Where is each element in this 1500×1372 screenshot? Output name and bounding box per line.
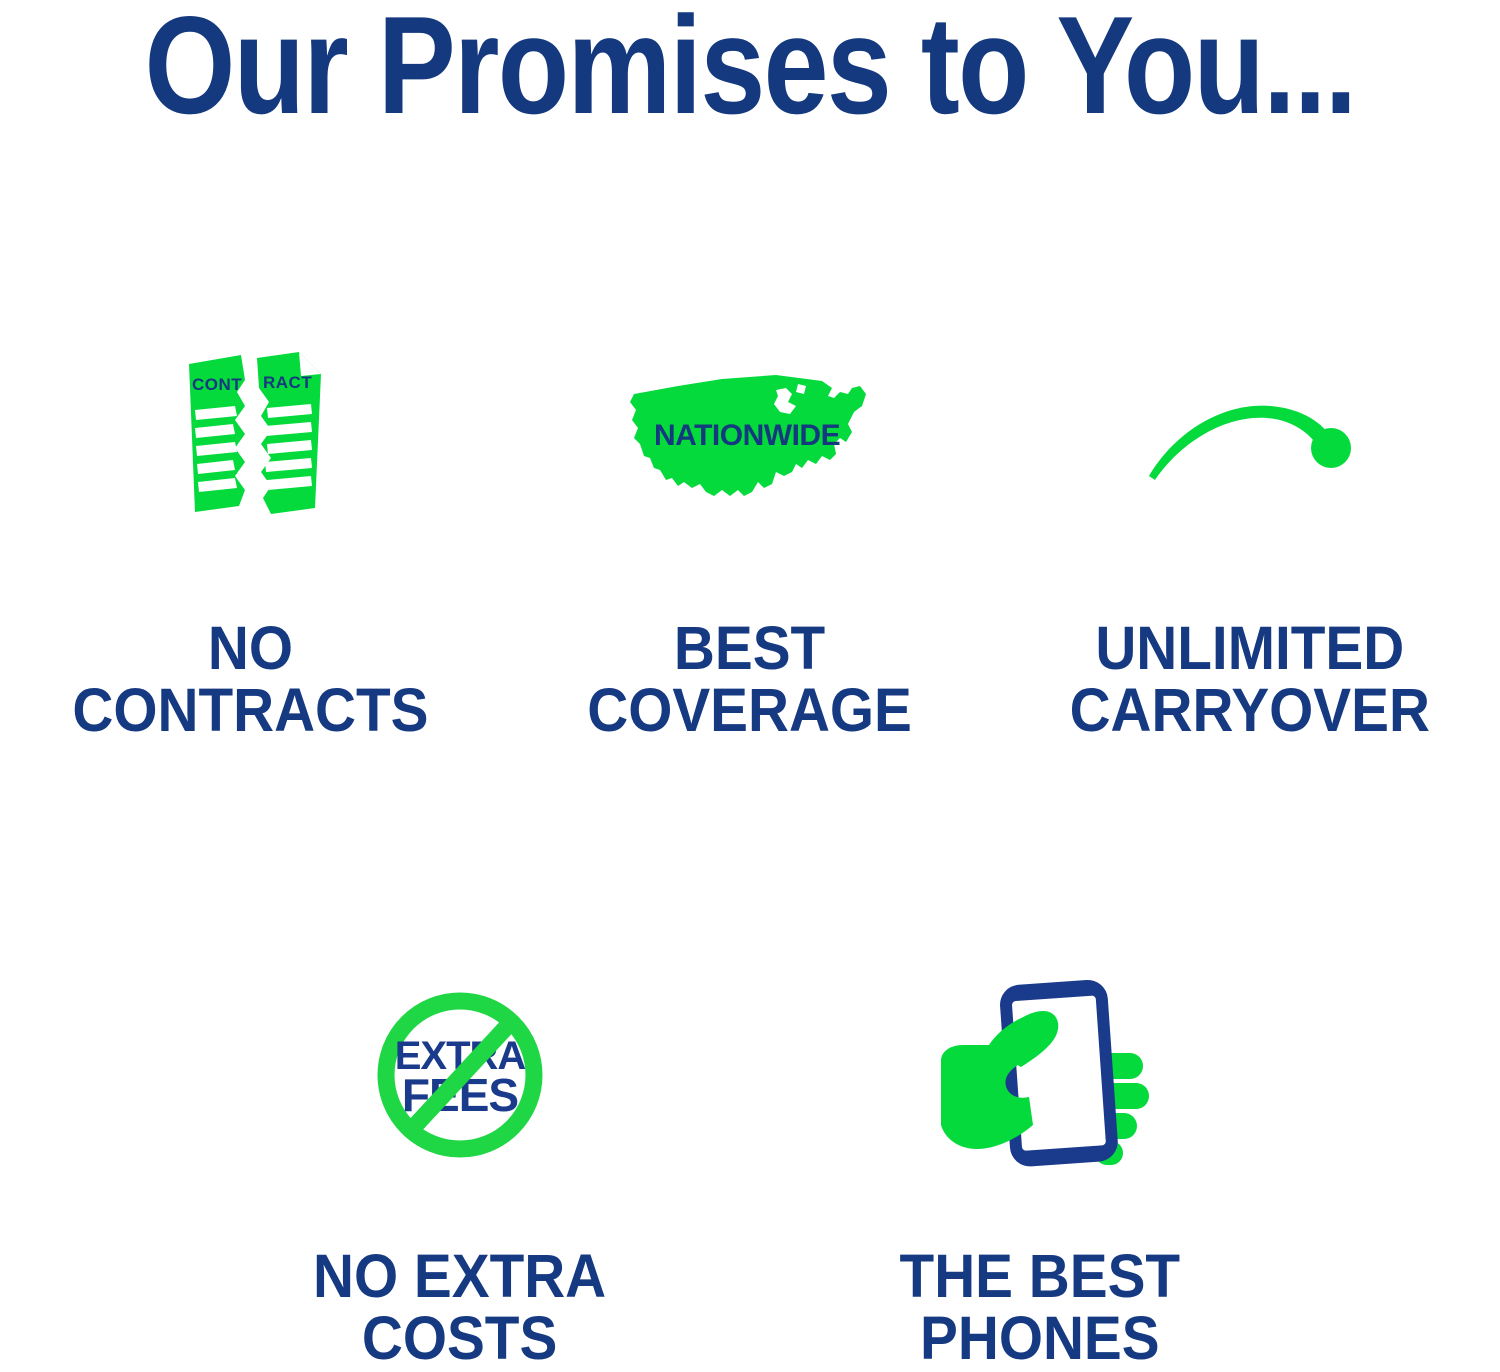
contract-icon-text-left: CONT bbox=[192, 375, 242, 394]
promise-label-the-best-phones: THE BEST PHONES bbox=[900, 1245, 1181, 1369]
page-title: Our Promises to You... bbox=[120, 0, 1380, 146]
no-extra-fees-icon: EXTRA FEES bbox=[372, 960, 548, 1190]
promise-label-no-contracts: NO CONTRACTS bbox=[72, 617, 428, 741]
promise-row-top: CONT RACT NO CONTRACTS NATIONWIDE BEST C… bbox=[0, 330, 1500, 741]
promise-label-best-coverage: BEST COVERAGE bbox=[588, 617, 913, 741]
promise-card-unlimited-carryover: UNLIMITED CARRYOVER bbox=[1000, 330, 1500, 741]
carryover-arc-icon bbox=[1145, 330, 1355, 545]
promise-card-best-coverage: NATIONWIDE BEST COVERAGE bbox=[500, 330, 1000, 741]
promise-card-no-contracts: CONT RACT NO CONTRACTS bbox=[0, 330, 500, 741]
promise-row-bottom: EXTRA FEES NO EXTRA COSTS bbox=[0, 960, 1500, 1369]
usa-map-icon: NATIONWIDE bbox=[626, 330, 874, 545]
contract-icon-text-right: RACT bbox=[263, 373, 312, 392]
promise-card-no-extra-costs: EXTRA FEES NO EXTRA COSTS bbox=[170, 960, 750, 1369]
promise-card-the-best-phones: THE BEST PHONES bbox=[750, 960, 1330, 1369]
promise-label-unlimited-carryover: UNLIMITED CARRYOVER bbox=[1070, 617, 1430, 741]
hand-holding-phone-icon bbox=[937, 960, 1143, 1190]
promise-label-no-extra-costs: NO EXTRA COSTS bbox=[313, 1245, 606, 1369]
nationwide-icon-text: NATIONWIDE bbox=[654, 419, 840, 452]
torn-contract-icon: CONT RACT bbox=[175, 330, 325, 545]
